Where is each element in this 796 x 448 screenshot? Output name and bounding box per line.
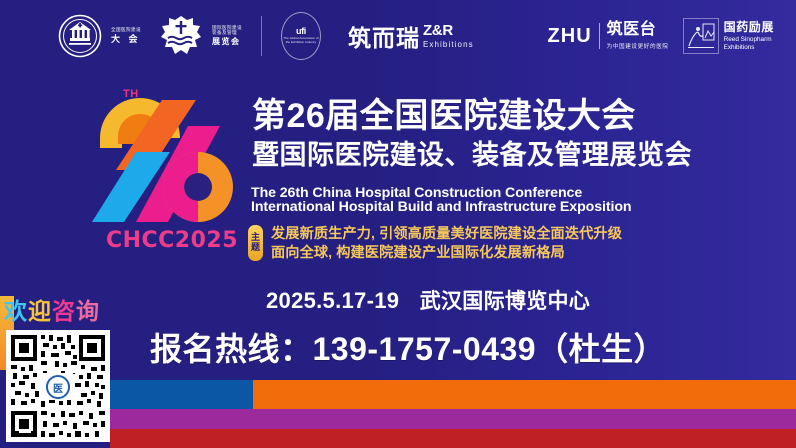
conference-emblem-text: 全国医院建设 大 会 [111,28,141,44]
exhibition-emblem-text: 国际医院建设 装备及管理 展览会 [212,26,242,46]
poster-canvas: 全国医院建设 大 会 国际医院建设 装备及管理 展览会 [0,0,796,448]
bottom-color-bands [0,370,796,448]
zr-en-sub: Exhibitions [423,40,474,49]
hospital-building-emblem-icon [58,14,102,58]
chcc-wordmark: CHCC2025 [97,228,247,253]
reed-cn-label: 国药励展 [724,21,774,33]
zr-en-main: Z&R [423,23,474,38]
qr-center-logo-icon: 医 [41,374,75,400]
header-logo-strip: 全国医院建设 大 会 国际医院建设 装备及管理 展览会 [0,0,796,72]
theme-line-1: 发展新质生产力, 引领高质量美好医院建设全面迭代升级 [271,225,622,244]
chcc-26-logo-icon [92,86,252,226]
reed-sinopharm-emblem-icon [683,18,719,54]
zhu-divider [599,23,600,49]
qr-center-label: 医 [46,375,70,399]
welcome-char-3: 咨 [52,298,76,324]
exhibition-emblem-big: 展览会 [212,38,242,46]
conference-emblem-big: 大 会 [111,35,141,44]
zhu-cn-label: 筑医台 [607,22,669,38]
zr-exhibitions-logo: 筑而瑞 Z&R Exhibitions [348,23,474,50]
header-left-logos: 全国医院建设 大 会 国际医院建设 装备及管理 展览会 [58,12,474,60]
reed-en-line2: Exhibitions [724,44,774,52]
reed-sinopharm-logo: 国药励展 Reed Sinopharm Exhibitions [683,18,774,54]
logo-ordinal-suffix: TH [123,88,139,100]
reed-en-line1: Reed Sinopharm [724,36,774,44]
zhu-yitai-logo: ZHU 筑医台 为中国建设更好的医院 [548,22,669,50]
zhu-mark: ZHU [548,26,592,46]
header-divider [261,16,262,56]
welcome-consult-label: 欢迎咨询 [4,300,100,323]
page-title-cn-line1: 第26届全国医院建设大会 [252,99,636,133]
welcome-char-1: 欢 [4,298,28,324]
zhu-tagline: 为中国建设更好的医院 [607,42,669,50]
exhibition-emblem-small-2: 装备及管理 [212,31,242,36]
theme-block: 主 题 发展新质生产力, 引领高质量美好医院建设全面迭代升级 面向全球, 构建医… [248,225,622,262]
band-red [0,429,796,448]
event-date-venue: 2025.5.17-19 武汉国际博览中心 [266,285,590,315]
theme-badge-char-2: 题 [251,243,260,253]
event-venue: 武汉国际博览中心 [420,290,590,313]
snowflake-cross-emblem-icon [159,14,203,58]
theme-text: 发展新质生产力, 引领高质量美好医院建设全面迭代升级 面向全球, 构建医院建设产… [271,225,622,262]
welcome-char-4: 询 [76,298,100,324]
page-title-en-line2: International Hospital Build and Infrast… [251,199,631,216]
hotline-text: 报名热线：139-1757-0439（杜生） [150,324,666,370]
conference-emblem-small: 全国医院建设 [111,28,141,33]
page-title-cn-line2: 暨国际医院建设、装备及管理展览会 [252,142,692,169]
theme-line-2: 面向全球, 构建医院建设产业国际化发展新格局 [271,244,622,263]
zr-cn-label: 筑而瑞 [348,27,420,50]
header-right-logos: ZHU 筑医台 为中国建设更好的医院 [548,13,774,59]
band-purple [0,409,796,429]
ufi-oval-icon: ufi The Global Association of the Exhibi… [281,13,321,59]
ufi-sub: The Global Association of the Exhibition… [282,37,320,44]
event-date: 2025.5.17-19 [266,288,399,313]
welcome-char-2: 迎 [28,298,52,324]
ufi-mark: ufi [296,27,306,36]
theme-badge: 主 题 [248,225,263,261]
band-blue [110,380,253,409]
